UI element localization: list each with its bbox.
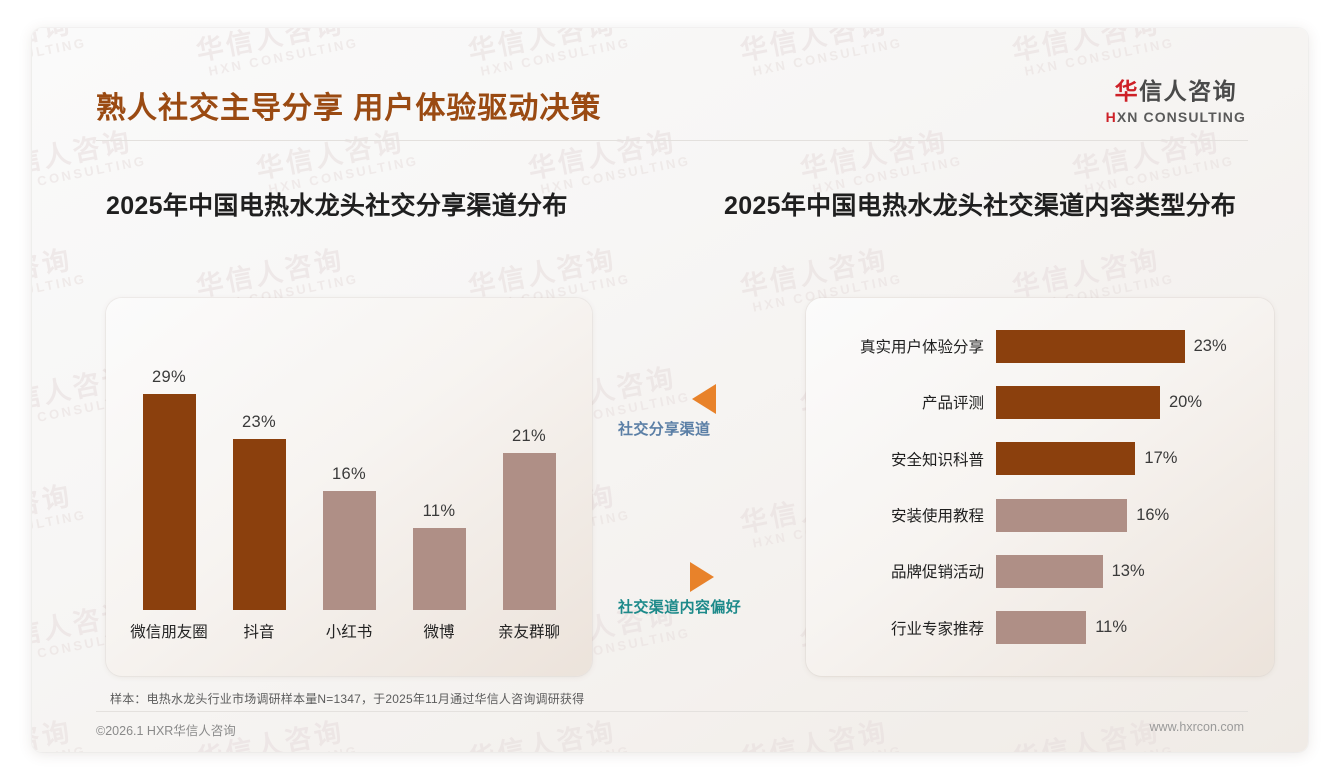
bar-rect[interactable] xyxy=(996,386,1160,419)
chart-title-right: 2025年中国电热水龙头社交渠道内容类型分布 xyxy=(724,186,1236,222)
title-divider xyxy=(96,140,1248,141)
bar-value-label: 11% xyxy=(1095,618,1127,637)
bar-rect[interactable] xyxy=(323,491,376,610)
bar-rect[interactable] xyxy=(996,555,1103,588)
copyright-text: ©2026.1 HXR华信人咨询 xyxy=(96,720,236,739)
vertical-bar-item[interactable]: 23% xyxy=(219,334,299,610)
bar-category-label: 产品评测 xyxy=(806,391,996,413)
bar-category-label: 行业专家推荐 xyxy=(806,617,996,639)
watermark-text: 华信人咨询HXN CONSULTING xyxy=(466,715,632,752)
horizontal-bar-chart: 真实用户体验分享23%产品评测20%安全知识科普17%安装使用教程16%品牌促销… xyxy=(806,318,1274,656)
vertical-bar-category-axis: 微信朋友圈抖音小红书微博亲友群聊 xyxy=(106,620,592,648)
bar-value-label: 21% xyxy=(512,427,546,446)
bar-value-label: 17% xyxy=(1144,449,1177,468)
bar-value-label: 16% xyxy=(332,465,366,484)
bar-rect[interactable] xyxy=(413,528,466,610)
vertical-bar-item[interactable]: 16% xyxy=(309,334,389,610)
connector-content-preference: 社交渠道内容偏好 xyxy=(618,562,741,617)
horizontal-bar-item[interactable]: 品牌促销活动13% xyxy=(806,554,1274,588)
bar-value-label: 20% xyxy=(1169,393,1202,412)
bar-value-label: 13% xyxy=(1112,562,1145,581)
horizontal-bar-item[interactable]: 真实用户体验分享23% xyxy=(806,329,1274,363)
vertical-bar-item[interactable]: 29% xyxy=(129,334,209,610)
connector-label-left: 社交分享渠道 xyxy=(618,418,716,439)
vertical-bar-item[interactable]: 21% xyxy=(489,334,569,610)
bar-value-label: 23% xyxy=(242,413,276,432)
chart-panel-left: 29%23%16%11%21% 微信朋友圈抖音小红书微博亲友群聊 xyxy=(106,298,592,676)
logo-en-rest: XN CONSULTING xyxy=(1117,109,1246,125)
watermark-text: 华信人咨询HXN CONSULTING xyxy=(32,479,88,552)
horizontal-bar-item[interactable]: 安装使用教程16% xyxy=(806,498,1274,532)
bar-rect[interactable] xyxy=(143,394,196,610)
footer-divider xyxy=(96,711,1248,712)
page-title: 熟人社交主导分享 用户体验驱动决策 xyxy=(96,83,601,127)
connector-social-share-channel: 社交分享渠道 xyxy=(618,384,716,439)
bar-category-label: 真实用户体验分享 xyxy=(806,335,996,357)
logo-cn-red: 华 xyxy=(1115,78,1140,104)
bar-value-label: 16% xyxy=(1136,506,1169,525)
logo-en-red: H xyxy=(1106,109,1117,125)
triangle-left-icon xyxy=(692,384,716,414)
logo-cn-rest: 信人咨询 xyxy=(1139,78,1237,104)
bar-rect[interactable] xyxy=(996,499,1127,532)
logo-chinese: 华信人咨询 xyxy=(1106,80,1246,103)
bar-value-label: 29% xyxy=(152,368,186,387)
bar-value-label: 23% xyxy=(1194,337,1227,356)
watermark-text: 华信人咨询HXN CONSULTING xyxy=(738,715,904,752)
horizontal-bar-item[interactable]: 安全知识科普17% xyxy=(806,442,1274,476)
bar-value-label: 11% xyxy=(423,502,456,521)
bar-rect[interactable] xyxy=(996,442,1135,475)
bar-rect[interactable] xyxy=(233,439,286,610)
bar-category-label: 微信朋友圈 xyxy=(129,620,209,648)
connector-label-right: 社交渠道内容偏好 xyxy=(618,596,741,617)
chart-panel-right: 真实用户体验分享23%产品评测20%安全知识科普17%安装使用教程16%品牌促销… xyxy=(806,298,1274,676)
logo-english: HXN CONSULTING xyxy=(1106,110,1246,124)
chart-title-left: 2025年中国电热水龙头社交分享渠道分布 xyxy=(106,186,568,222)
website-url[interactable]: www.hxrcon.com xyxy=(1150,720,1244,734)
watermark-text: 华信人咨询HXN CONSULTING xyxy=(32,715,88,752)
bar-category-label: 微博 xyxy=(399,620,479,648)
bar-category-label: 抖音 xyxy=(219,620,299,648)
triangle-right-icon xyxy=(690,562,714,592)
sample-footnote: 样本：电热水龙头行业市场调研样本量N=1347，于2025年11月通过华信人咨询… xyxy=(110,690,584,707)
bar-rect[interactable] xyxy=(996,330,1185,363)
slide-header: 熟人社交主导分享 用户体验驱动决策 华信人咨询 HXN CONSULTING xyxy=(32,28,1308,138)
horizontal-bar-item[interactable]: 产品评测20% xyxy=(806,385,1274,419)
watermark-text: 华信人咨询HXN CONSULTING xyxy=(32,243,88,316)
vertical-bar-item[interactable]: 11% xyxy=(399,334,479,610)
bar-category-label: 品牌促销活动 xyxy=(806,560,996,582)
bar-rect[interactable] xyxy=(996,611,1086,644)
bar-rect[interactable] xyxy=(503,453,556,610)
vertical-bar-chart: 29%23%16%11%21% xyxy=(106,334,592,610)
slide-card: 华信人咨询HXN CONSULTING华信人咨询HXN CONSULTING华信… xyxy=(32,28,1308,752)
bar-category-label: 亲友群聊 xyxy=(489,620,569,648)
horizontal-bar-item[interactable]: 行业专家推荐11% xyxy=(806,611,1274,645)
bar-category-label: 安装使用教程 xyxy=(806,504,996,526)
brand-logo: 华信人咨询 HXN CONSULTING xyxy=(1106,80,1246,124)
bar-category-label: 小红书 xyxy=(309,620,389,648)
bar-category-label: 安全知识科普 xyxy=(806,448,996,470)
